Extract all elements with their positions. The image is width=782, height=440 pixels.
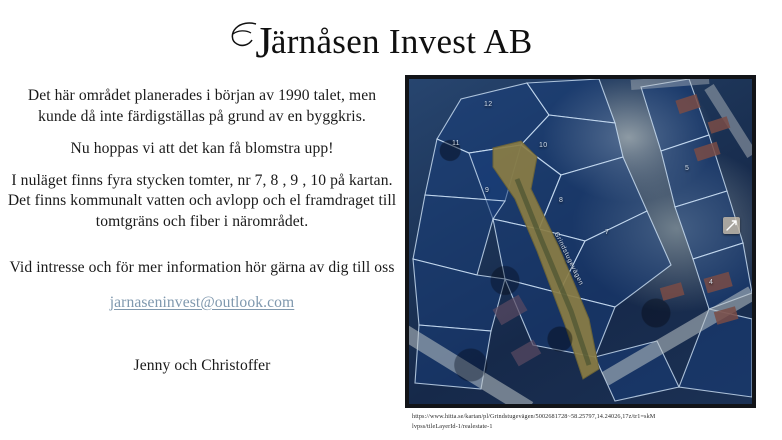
paragraph-hope: Nu hoppas vi att det kan få blomstra upp… — [6, 139, 398, 160]
parcel-label-10: 10 — [539, 142, 547, 149]
parcel-label-9: 9 — [485, 187, 489, 194]
satellite-map-image[interactable]: 12 11 10 9 8 7 5 4 Grindstugevägen — [409, 79, 752, 404]
email-line: jarnaseninvest@outlook.com — [6, 294, 398, 312]
signature-line: Jenny och Christoffer — [6, 357, 398, 375]
terrain-texture — [409, 79, 752, 404]
expand-arrow-icon — [726, 220, 737, 231]
parcel-label-7: 7 — [605, 229, 609, 236]
parcel-label-8: 8 — [559, 197, 563, 204]
slide-root: J ärnåsen Invest AB Det här området plan… — [0, 0, 782, 440]
title-remainder: ärnåsen Invest AB — [271, 22, 533, 61]
map-panel[interactable]: 12 11 10 9 8 7 5 4 Grindstugevägen — [405, 75, 756, 408]
parcel-label-5: 5 — [685, 165, 689, 172]
parcel-label-4: 4 — [709, 279, 713, 286]
source-url-line-1: https://www.hitta.se/kartan/pl/Grindstug… — [412, 412, 772, 422]
page-title-text: J ärnåsen Invest AB — [249, 22, 532, 62]
paragraph-lots-info: I nuläget finns fyra stycken tomter, nr … — [6, 171, 398, 233]
expand-map-button[interactable] — [723, 217, 740, 234]
source-url-line-2: lvpss/tileLayerId-1/realestate-1 — [412, 422, 772, 432]
j-swash-flourish-icon — [229, 21, 259, 55]
contact-column: Vid intresse och för mer information hör… — [6, 258, 398, 312]
description-column: Det här området planerades i början av 1… — [6, 86, 398, 232]
source-url-caption: https://www.hitta.se/kartan/pl/Grindstug… — [412, 412, 772, 431]
paragraph-history: Det här området planerades i början av 1… — [14, 86, 390, 127]
paragraph-contact: Vid intresse och för mer information hör… — [6, 258, 398, 279]
parcel-label-11: 11 — [452, 140, 460, 147]
email-link[interactable]: jarnaseninvest@outlook.com — [110, 294, 295, 311]
page-title: J ärnåsen Invest AB — [0, 22, 782, 62]
decorative-j-initial: J — [255, 25, 272, 60]
parcel-label-12: 12 — [484, 101, 492, 108]
